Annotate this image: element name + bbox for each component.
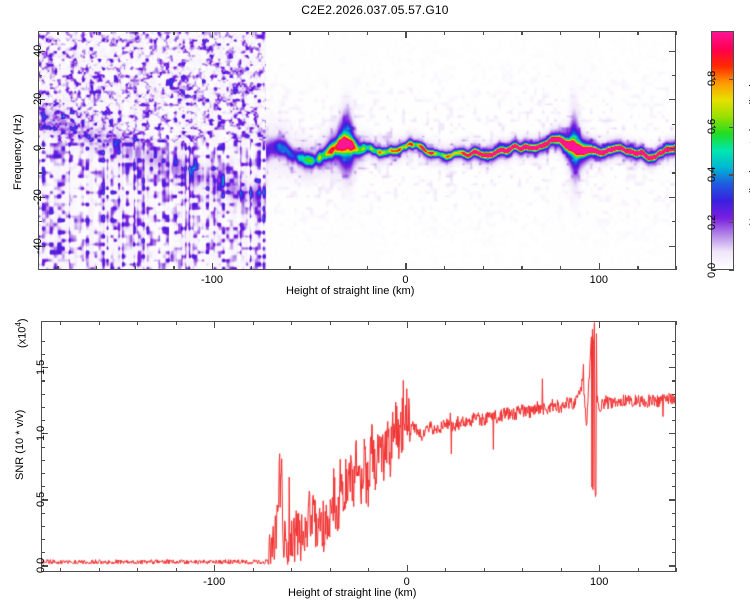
tick-mark xyxy=(445,321,446,325)
tick-label: 0.8 xyxy=(706,71,718,86)
tick-mark xyxy=(729,79,734,80)
tick-mark xyxy=(367,266,368,270)
tick-mark xyxy=(41,420,45,421)
tick-mark xyxy=(135,31,136,35)
tick-mark xyxy=(445,568,446,572)
tick-mark xyxy=(669,51,676,52)
tick-label: 20 xyxy=(32,93,44,105)
tick-mark xyxy=(599,565,600,572)
figure-root: C2E2.2026.037.05.57.G10 -1000100-40-2002… xyxy=(0,0,750,600)
tick-mark xyxy=(672,513,676,514)
tick-mark xyxy=(484,568,485,572)
tick-mark xyxy=(41,486,45,487)
tick-mark xyxy=(330,321,331,325)
tick-mark xyxy=(405,31,406,38)
colorbar-gradient xyxy=(712,32,733,269)
tick-label: -100 xyxy=(203,576,225,588)
tick-mark xyxy=(368,321,369,325)
tick-label: 40 xyxy=(32,44,44,56)
tick-mark xyxy=(672,526,676,527)
tick-mark xyxy=(41,407,45,408)
tick-mark xyxy=(672,380,676,381)
tick-mark xyxy=(676,31,677,35)
tick-mark xyxy=(669,367,676,368)
tick-mark xyxy=(60,568,61,572)
tick-mark xyxy=(521,31,522,35)
tick-mark xyxy=(672,124,676,125)
tick-mark xyxy=(38,124,42,125)
tick-mark xyxy=(38,221,42,222)
tick-mark xyxy=(41,447,45,448)
tick-label: -40 xyxy=(32,238,44,254)
snr-exponent-label: (x104) xyxy=(14,318,29,348)
tick-mark xyxy=(676,568,677,572)
tick-mark xyxy=(41,460,45,461)
tick-label: 100 xyxy=(590,274,608,286)
tick-mark xyxy=(57,31,58,35)
tick-label: 1.0 xyxy=(35,425,47,440)
tick-mark xyxy=(214,321,215,328)
tick-mark xyxy=(60,321,61,325)
tick-mark xyxy=(672,539,676,540)
page-title: C2E2.2026.037.05.57.G10 xyxy=(0,3,750,17)
tick-mark xyxy=(253,321,254,325)
tick-mark xyxy=(176,568,177,572)
tick-mark xyxy=(41,341,45,342)
tick-mark xyxy=(521,266,522,270)
snr-ylabel: SNR (10 * v/v) xyxy=(14,410,26,480)
spectrogram-axes xyxy=(38,31,676,270)
tick-mark xyxy=(212,263,213,270)
tick-mark xyxy=(483,266,484,270)
snr-xlabel: Height of straight line (km) xyxy=(288,587,416,599)
tick-mark xyxy=(41,513,45,514)
tick-mark xyxy=(444,266,445,270)
tick-mark xyxy=(41,354,45,355)
tick-mark xyxy=(41,394,45,395)
tick-mark xyxy=(214,565,215,572)
tick-mark xyxy=(672,447,676,448)
tick-label: 0.5 xyxy=(35,492,47,507)
tick-mark xyxy=(729,270,734,271)
tick-mark xyxy=(672,460,676,461)
tick-mark xyxy=(672,172,676,173)
tick-label: 1.5 xyxy=(35,359,47,374)
tick-mark xyxy=(669,99,676,100)
tick-mark xyxy=(672,407,676,408)
tick-label: -100 xyxy=(201,274,223,286)
tick-mark xyxy=(669,246,676,247)
tick-mark xyxy=(599,321,600,328)
tick-mark xyxy=(135,266,136,270)
tick-mark xyxy=(291,321,292,325)
tick-mark xyxy=(669,197,676,198)
tick-mark xyxy=(561,321,562,325)
tick-mark xyxy=(368,568,369,572)
tick-mark xyxy=(41,526,45,527)
snr-line-plot xyxy=(42,322,675,571)
tick-mark xyxy=(41,539,45,540)
tick-mark xyxy=(137,321,138,325)
tick-mark xyxy=(484,321,485,325)
tick-label: 0.0 xyxy=(35,558,47,573)
tick-mark xyxy=(212,31,213,38)
snr-exponent-close: ) xyxy=(17,318,29,322)
spectrogram-ylabel: Frequency (Hz) xyxy=(12,114,24,190)
tick-label: 0.4 xyxy=(706,167,718,182)
tick-label: -20 xyxy=(32,189,44,205)
tick-mark xyxy=(672,473,676,474)
tick-mark xyxy=(637,31,638,35)
tick-mark xyxy=(328,266,329,270)
tick-mark xyxy=(173,266,174,270)
tick-label: 100 xyxy=(590,576,608,588)
tick-mark xyxy=(289,31,290,35)
tick-mark xyxy=(407,565,408,572)
tick-label: 0.2 xyxy=(706,214,718,229)
tick-mark xyxy=(330,568,331,572)
tick-mark xyxy=(672,221,676,222)
tick-mark xyxy=(669,433,676,434)
snr-axes xyxy=(41,321,676,572)
tick-mark xyxy=(672,486,676,487)
spectrogram-xlabel: Height of straight line (km) xyxy=(286,285,414,297)
tick-mark xyxy=(38,75,42,76)
tick-mark xyxy=(729,174,734,175)
tick-mark xyxy=(367,31,368,35)
tick-mark xyxy=(444,31,445,35)
tick-mark xyxy=(672,394,676,395)
tick-mark xyxy=(638,568,639,572)
tick-mark xyxy=(99,568,100,572)
tick-mark xyxy=(522,568,523,572)
tick-mark xyxy=(522,321,523,325)
tick-mark xyxy=(483,31,484,35)
tick-mark xyxy=(41,473,45,474)
tick-mark xyxy=(599,263,600,270)
tick-mark xyxy=(560,266,561,270)
tick-mark xyxy=(291,568,292,572)
tick-mark xyxy=(251,266,252,270)
tick-mark xyxy=(137,568,138,572)
tick-mark xyxy=(672,420,676,421)
tick-mark xyxy=(676,321,677,325)
tick-mark xyxy=(599,31,600,38)
tick-mark xyxy=(729,222,734,223)
tick-mark xyxy=(41,380,45,381)
tick-mark xyxy=(638,321,639,325)
colorbar xyxy=(711,31,734,270)
tick-mark xyxy=(57,266,58,270)
tick-mark xyxy=(328,31,329,35)
tick-mark xyxy=(99,321,100,325)
tick-mark xyxy=(173,31,174,35)
tick-mark xyxy=(669,565,676,566)
tick-mark xyxy=(176,321,177,325)
tick-mark xyxy=(561,568,562,572)
tick-mark xyxy=(96,31,97,35)
tick-mark xyxy=(289,266,290,270)
snr-exponent-base: (x10 xyxy=(17,327,29,348)
tick-mark xyxy=(251,31,252,35)
tick-mark xyxy=(253,568,254,572)
tick-mark xyxy=(672,341,676,342)
tick-mark xyxy=(729,127,734,128)
tick-mark xyxy=(669,148,676,149)
tick-label: 0.0 xyxy=(706,262,718,277)
tick-mark xyxy=(672,75,676,76)
tick-mark xyxy=(637,266,638,270)
tick-mark xyxy=(405,263,406,270)
spectrogram-image xyxy=(39,32,675,269)
tick-label: 0.6 xyxy=(706,119,718,134)
tick-mark xyxy=(96,266,97,270)
tick-mark xyxy=(560,31,561,35)
tick-mark xyxy=(669,499,676,500)
tick-label: 0 xyxy=(32,145,44,151)
tick-mark xyxy=(407,321,408,328)
tick-mark xyxy=(38,172,42,173)
tick-mark xyxy=(672,354,676,355)
snr-exponent-power: 4 xyxy=(14,322,23,326)
tick-mark xyxy=(41,552,45,553)
tick-mark xyxy=(672,552,676,553)
tick-mark xyxy=(676,266,677,270)
